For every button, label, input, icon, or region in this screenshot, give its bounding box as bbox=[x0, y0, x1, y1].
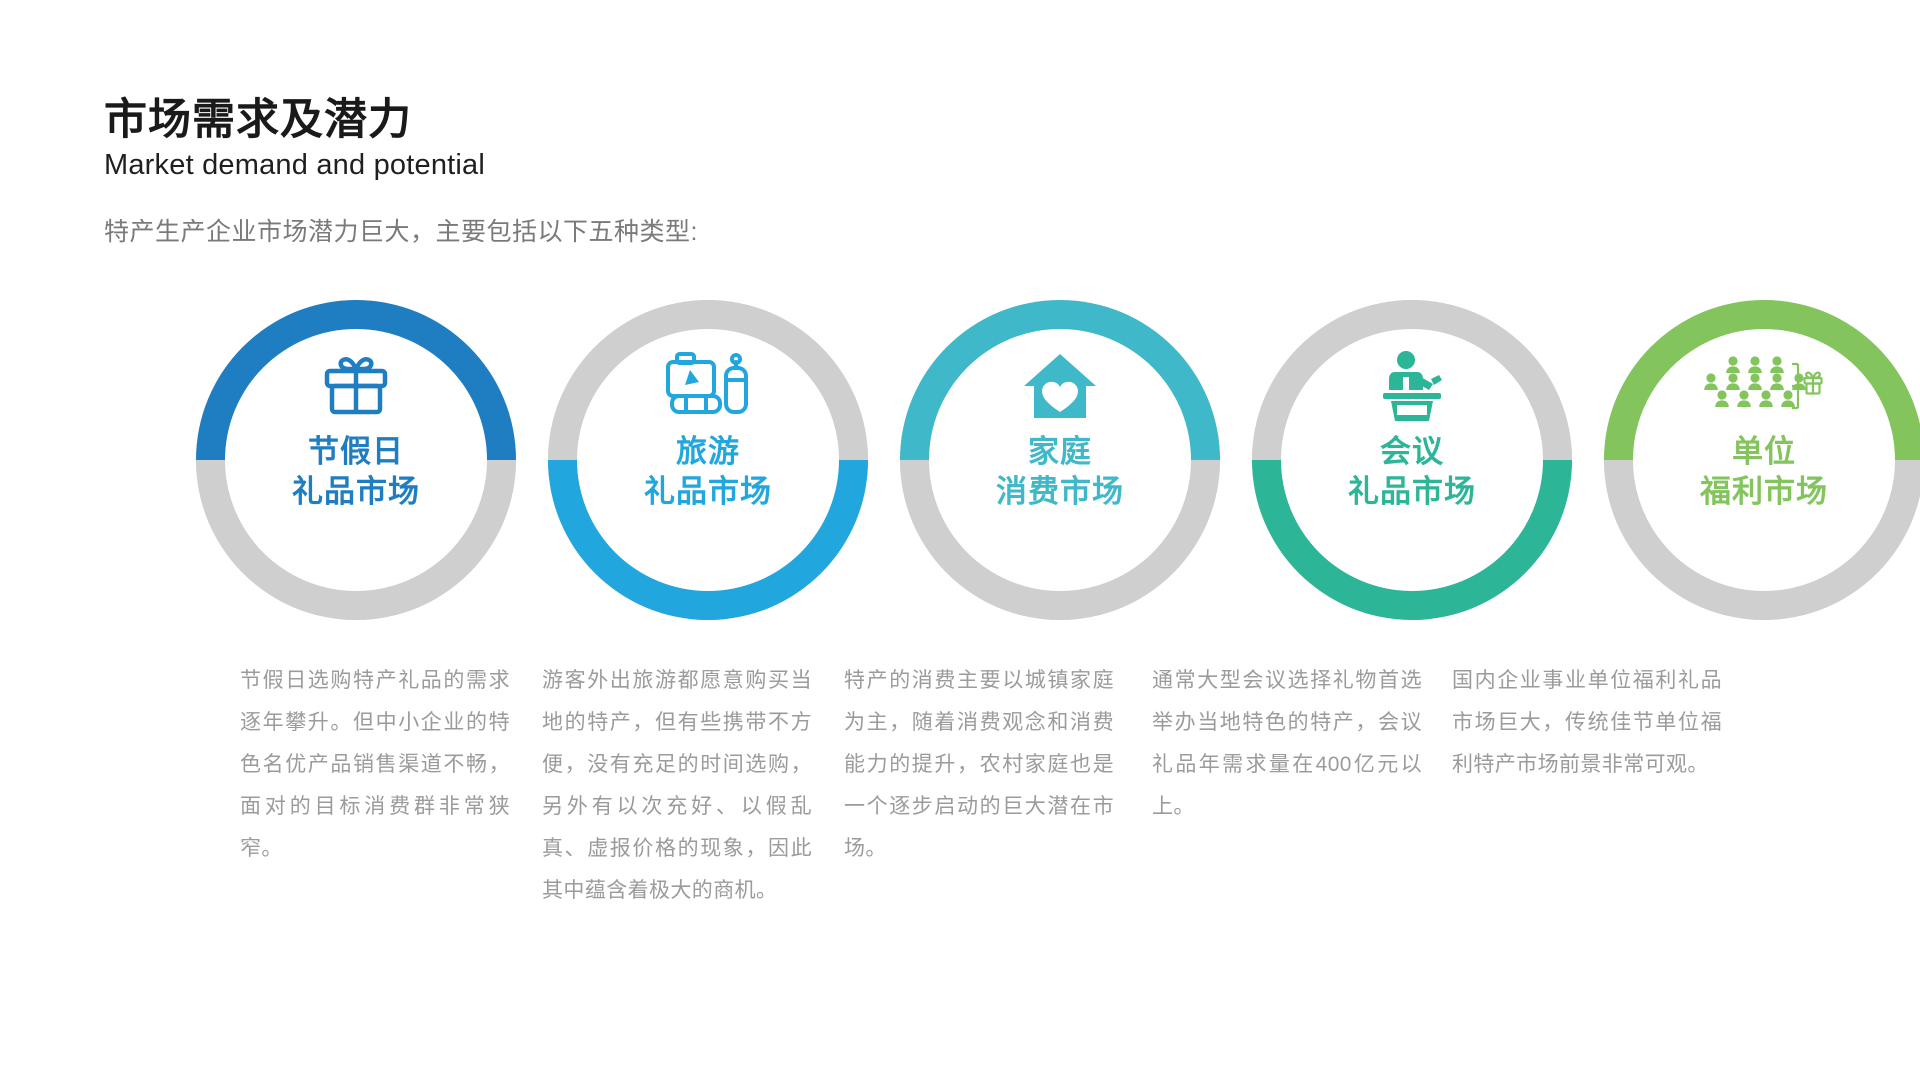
page-subtitle: Market demand and potential bbox=[104, 148, 1104, 183]
circle-content: 单位 福利市场 bbox=[1644, 348, 1884, 511]
circle-label-line1: 家庭 bbox=[940, 432, 1180, 472]
circle-label-line2: 礼品市场 bbox=[588, 472, 828, 512]
market-paragraph-4: 通常大型会议选择礼物首选举办当地特色的特产，会议礼品年需求量在400亿元以上。 bbox=[1152, 660, 1422, 828]
circle-label-line2: 福利市场 bbox=[1644, 472, 1884, 512]
circle-label-line1: 单位 bbox=[1644, 432, 1884, 472]
circle-label: 会议 礼品市场 bbox=[1292, 432, 1532, 511]
market-paragraph-3: 特产的消费主要以城镇家庭为主，随着消费观念和消费能力的提升，农村家庭也是一个逐步… bbox=[844, 660, 1114, 870]
circle-row: 节假日 礼品市场 旅游 bbox=[0, 300, 1920, 640]
luggage-icon bbox=[588, 348, 828, 426]
circle-label-line1: 会议 bbox=[1292, 432, 1532, 472]
market-paragraph-1: 节假日选购特产礼品的需求逐年攀升。但中小企业的特色名优产品销售渠道不畅，面对的目… bbox=[240, 660, 510, 870]
circle-content: 家庭 消费市场 bbox=[940, 348, 1180, 511]
circle-label-line2: 礼品市场 bbox=[236, 472, 476, 512]
house-heart-icon bbox=[940, 348, 1180, 426]
gift-box-icon bbox=[236, 348, 476, 426]
circle-label: 家庭 消费市场 bbox=[940, 432, 1180, 511]
circle-label-line1: 旅游 bbox=[588, 432, 828, 472]
market-circle-3[interactable]: 家庭 消费市场 bbox=[900, 300, 1220, 620]
circle-content: 会议 礼品市场 bbox=[1292, 348, 1532, 511]
market-circle-2[interactable]: 旅游 礼品市场 bbox=[548, 300, 868, 620]
circle-label: 旅游 礼品市场 bbox=[588, 432, 828, 511]
circle-label: 节假日 礼品市场 bbox=[236, 432, 476, 511]
circle-label-line1: 节假日 bbox=[236, 432, 476, 472]
page-title: 市场需求及潜力 bbox=[104, 96, 1104, 144]
circle-content: 旅游 礼品市场 bbox=[588, 348, 828, 511]
circle-content: 节假日 礼品市场 bbox=[236, 348, 476, 511]
market-circle-4[interactable]: 会议 礼品市场 bbox=[1252, 300, 1572, 620]
page-header: 市场需求及潜力 Market demand and potential bbox=[104, 96, 1104, 183]
market-circle-5[interactable]: 单位 福利市场 bbox=[1604, 300, 1920, 620]
group-gift-icon bbox=[1644, 348, 1884, 426]
speaker-podium-icon bbox=[1292, 348, 1532, 426]
market-paragraph-2: 游客外出旅游都愿意购买当地的特产，但有些携带不方便，没有充足的时间选购，另外有以… bbox=[542, 660, 812, 912]
circle-label-line2: 消费市场 bbox=[940, 472, 1180, 512]
lead-in-text: 特产生产企业市场潜力巨大，主要包括以下五种类型: bbox=[104, 212, 698, 248]
market-paragraph-5: 国内企业事业单位福利礼品市场巨大，传统佳节单位福利特产市场前景非常可观。 bbox=[1452, 660, 1722, 786]
circle-label: 单位 福利市场 bbox=[1644, 432, 1884, 511]
market-circle-1[interactable]: 节假日 礼品市场 bbox=[196, 300, 516, 620]
circle-label-line2: 礼品市场 bbox=[1292, 472, 1532, 512]
